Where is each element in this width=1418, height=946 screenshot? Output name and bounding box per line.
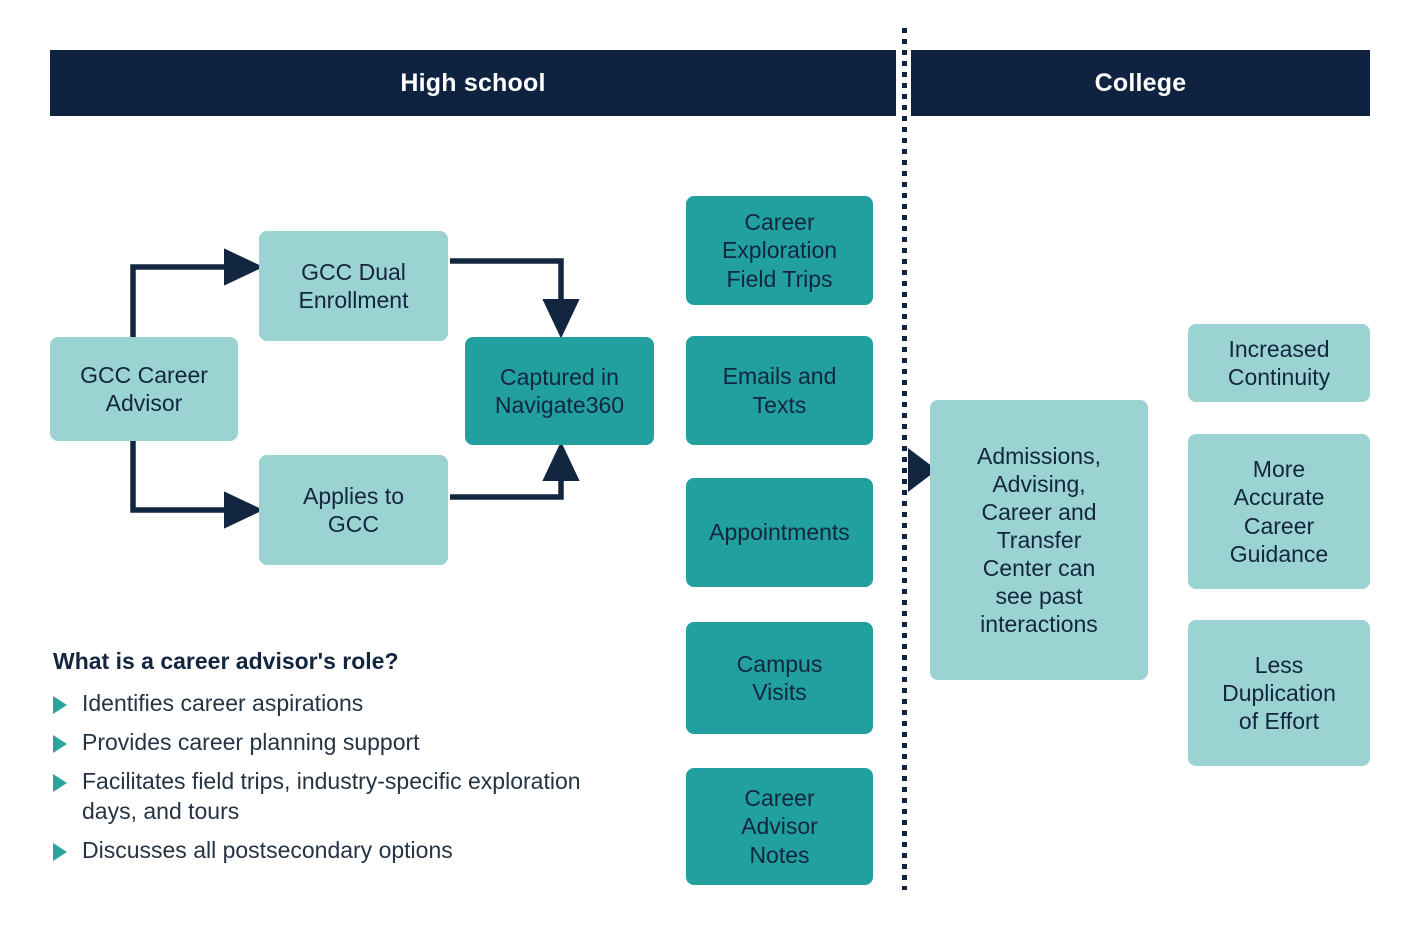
header-high-school: High school [50, 50, 896, 116]
arrow-advisor-to-dual-enrollment [133, 267, 247, 337]
box-career-exploration-field-trips[interactable]: Career Exploration Field Trips [686, 196, 873, 305]
list-item-label: Identifies career aspirations [82, 689, 363, 719]
triangle-bullet-icon [53, 696, 67, 714]
list-item: Identifies career aspirations [53, 689, 613, 719]
career-advisor-role-heading: What is a career advisor's role? [53, 648, 613, 675]
box-gcc-career-advisor[interactable]: GCC Career Advisor [50, 337, 238, 441]
triangle-bullet-icon [53, 774, 67, 792]
list-item-label: Discusses all postsecondary options [82, 836, 453, 866]
box-campus-visits[interactable]: Campus Visits [686, 622, 873, 734]
list-item: Facilitates field trips, industry-specif… [53, 767, 613, 827]
list-item-label: Provides career planning support [82, 728, 420, 758]
arrow-dual-enrollment-to-captured [450, 261, 561, 322]
triangle-bullet-icon [53, 843, 67, 861]
arrow-applies-to-captured [450, 458, 561, 497]
box-captured-in-navigate360[interactable]: Captured in Navigate360 [465, 337, 654, 445]
box-emails-and-texts[interactable]: Emails and Texts [686, 336, 873, 445]
box-career-advisor-notes[interactable]: Career Advisor Notes [686, 768, 873, 885]
box-more-accurate-career-guidance[interactable]: More Accurate Career Guidance [1188, 434, 1370, 589]
box-admissions-advising-career-transfer-center[interactable]: Admissions, Advising, Career and Transfe… [930, 400, 1148, 680]
list-item-label: Facilitates field trips, industry-specif… [82, 767, 582, 827]
list-item: Discusses all postsecondary options [53, 836, 613, 866]
box-less-duplication-of-effort[interactable]: Less Duplication of Effort [1188, 620, 1370, 766]
arrow-advisor-to-applies [133, 441, 247, 510]
header-college-label: College [1095, 69, 1187, 98]
box-gcc-dual-enrollment[interactable]: GCC Dual Enrollment [259, 231, 448, 341]
section-divider-dotted-line [902, 28, 907, 890]
list-item: Provides career planning support [53, 728, 613, 758]
triangle-bullet-icon [53, 735, 67, 753]
box-appointments[interactable]: Appointments [686, 478, 873, 587]
career-advisor-role-block: What is a career advisor's role? Identif… [53, 648, 613, 874]
diagram-canvas: High school College GCC Career Advisor G… [0, 0, 1418, 946]
header-college: College [911, 50, 1370, 116]
box-applies-to-gcc[interactable]: Applies to GCC [259, 455, 448, 565]
header-high-school-label: High school [400, 69, 545, 98]
box-increased-continuity[interactable]: Increased Continuity [1188, 324, 1370, 402]
